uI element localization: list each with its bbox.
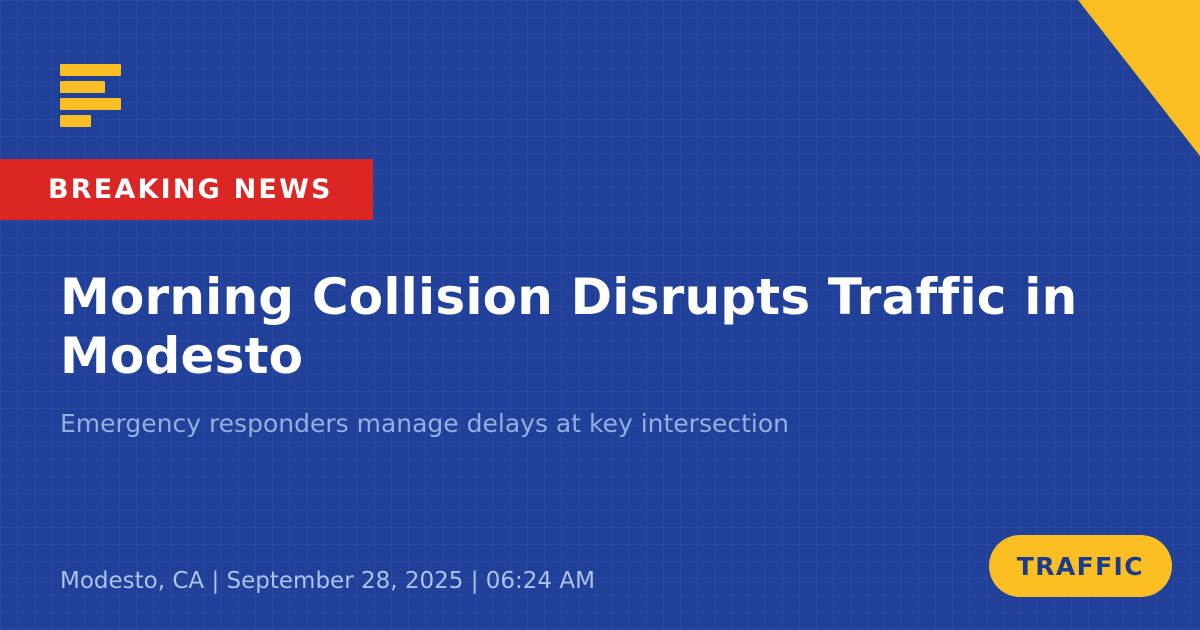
logo-bar-1 — [60, 64, 121, 76]
page-title: Morning Collision Disrupts Traffic in Mo… — [60, 268, 1120, 386]
breaking-news-card: BREAKING NEWS Morning Collision Disrupts… — [0, 0, 1200, 630]
logo-bar-3 — [60, 98, 121, 110]
status-badge: TRAFFIC — [989, 535, 1172, 597]
breaking-news-banner: BREAKING NEWS — [0, 159, 373, 220]
yellow-corner-triangle-icon — [1048, 0, 1200, 156]
logo-bar-4 — [60, 115, 91, 127]
subtitle-text: Emergency responders manage delays at ke… — [60, 408, 1080, 441]
logo-bar-2 — [60, 81, 105, 93]
breaking-news-label: BREAKING NEWS — [48, 176, 333, 203]
category-badge-label: TRAFFIC — [1017, 554, 1144, 579]
brand-logo — [60, 64, 121, 127]
footer-meta-line: Modesto, CA | September 28, 2025 | 06:24… — [60, 567, 595, 597]
